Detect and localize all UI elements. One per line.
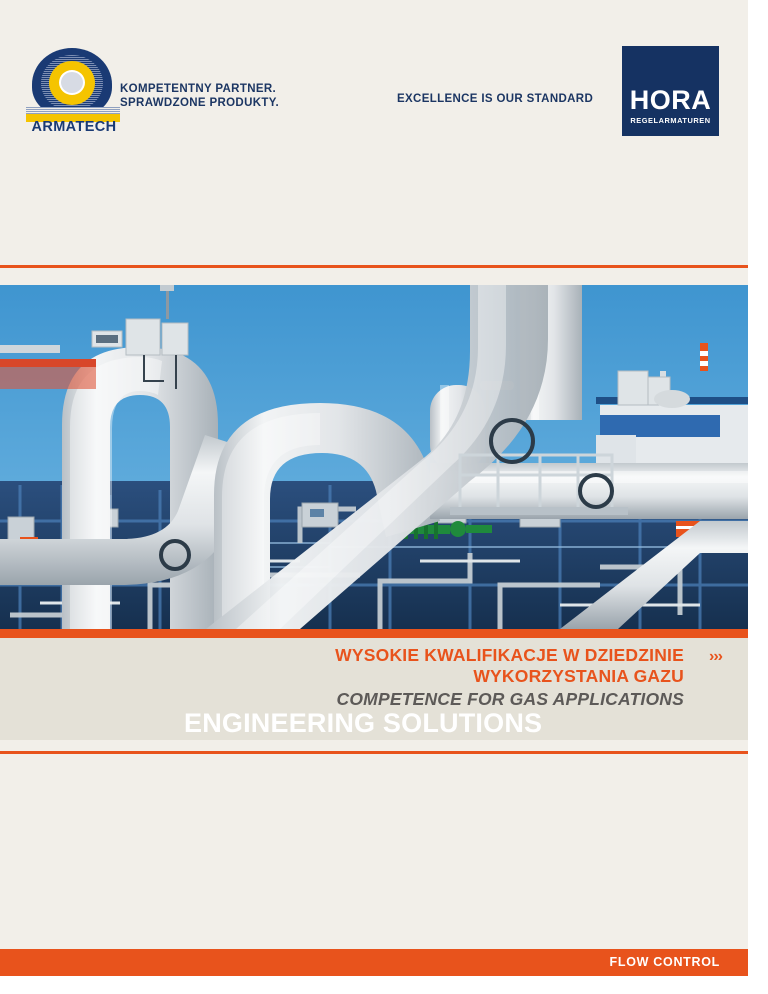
armatech-wordmark: ARMATECH (26, 121, 122, 134)
armatech-tagline: KOMPETENTNY PARTNER. SPRAWDZONE PRODUKTY… (120, 82, 279, 110)
headline-polish-line1: WYSOKIE KWALIFIKACJE W DZIEDZINIE (335, 645, 684, 665)
title-band: WYSOKIE KWALIFIKACJE W DZIEDZINIE WYKORZ… (0, 638, 748, 740)
hora-logo-subtitle: REGELARMATUREN (622, 116, 719, 125)
header-band: ARMATECH KOMPETENTNY PARTNER. SPRAWDZONE… (0, 0, 748, 265)
armatech-tagline-line2: SPRAWDZONE PRODUKTY. (120, 96, 279, 110)
title-inner: WYSOKIE KWALIFIKACJE W DZIEDZINIE WYKORZ… (0, 638, 748, 740)
armatech-tagline-line1: KOMPETENTNY PARTNER. (120, 82, 279, 96)
hora-logo: HORA REGELARMATUREN (622, 46, 719, 136)
footer-bar: FLOW CONTROL (0, 949, 748, 976)
headline-polish: WYSOKIE KWALIFIKACJE W DZIEDZINIE WYKORZ… (64, 645, 684, 687)
photo-underbar (0, 629, 748, 638)
armatech-logo: ARMATECH (26, 48, 122, 133)
headline-polish-line2: WYKORZYSTANIA GAZU (473, 666, 684, 686)
hero-photo-illustration (0, 285, 748, 629)
chevrons-icon: ››› (709, 648, 722, 666)
hero-photo (0, 285, 748, 629)
hora-slogan: EXCELLENCE IS OUR STANDARD (397, 93, 593, 105)
divider-rule-bottom (0, 751, 748, 754)
armatech-ring-center (59, 70, 85, 95)
hora-logo-name: HORA (622, 87, 719, 114)
subtitle-engineering-solutions: ENGINEERING SOLUTIONS (184, 708, 542, 738)
headline-english: COMPETENCE FOR GAS APPLICATIONS (64, 689, 684, 710)
brochure-page: ARMATECH KOMPETENTNY PARTNER. SPRAWDZONE… (0, 0, 768, 994)
divider-rule-top (0, 265, 748, 268)
footer-label: FLOW CONTROL (610, 955, 720, 969)
